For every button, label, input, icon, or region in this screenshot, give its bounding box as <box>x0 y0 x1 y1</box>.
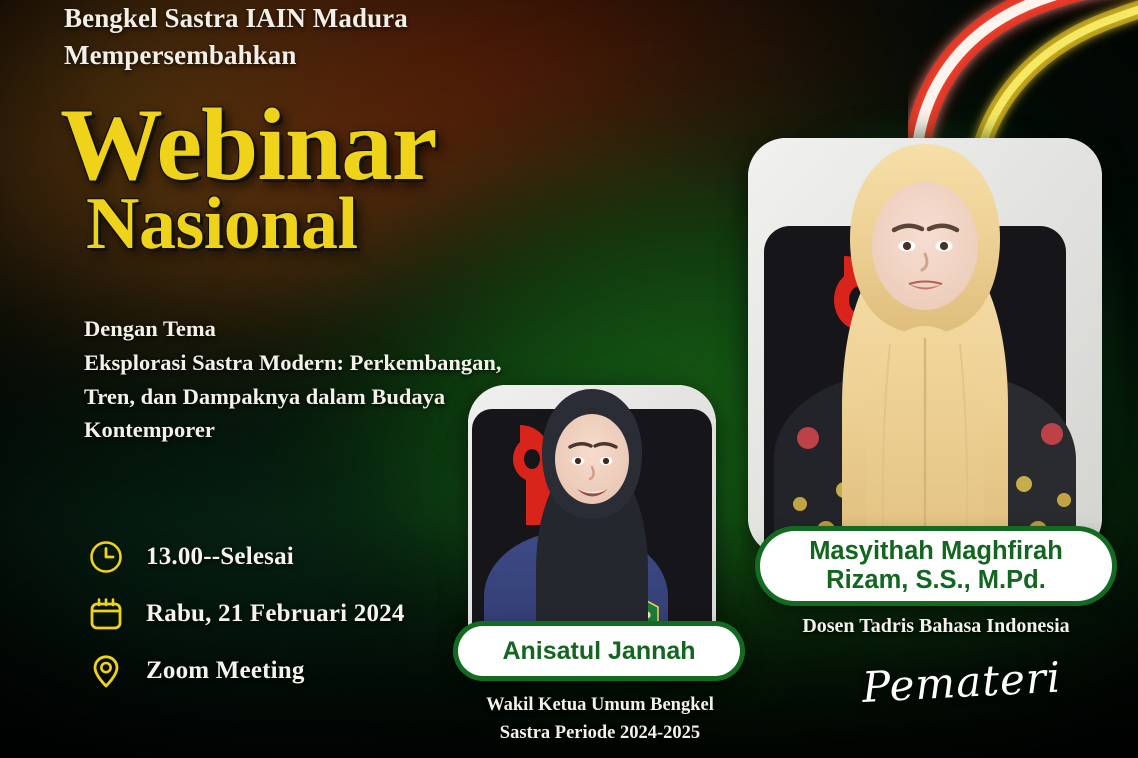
header-line-2: Mempersembahkan <box>64 37 684 74</box>
speaker-secondary-name: Anisatul Jannah <box>502 637 695 666</box>
photo-frame-secondary <box>468 385 716 667</box>
speaker-main-role: Dosen Tadris Bahasa Indonesia <box>760 615 1112 638</box>
speaker-secondary-role-line-1: Wakil Ketua Umum Bengkel <box>440 692 760 720</box>
photo-frame-main <box>748 138 1102 556</box>
speaker-secondary-role-line-2: Sastra Periode 2024-2025 <box>440 720 760 748</box>
detail-row-date: Rabu, 21 Februari 2024 <box>88 585 405 642</box>
speaker-name-badge-secondary: Anisatul Jannah <box>458 626 740 676</box>
speaker-photo-main <box>748 138 1102 556</box>
pemateri-script-label: Pemateri <box>861 653 1053 712</box>
calendar-icon <box>88 596 124 632</box>
portrait-illustration-main <box>748 138 1102 556</box>
detail-row-location: Zoom Meeting <box>88 642 405 699</box>
speaker-photo-secondary <box>468 385 716 667</box>
header-line-1: Bengkel Sastra IAIN Madura <box>64 0 684 37</box>
organizer-header: Bengkel Sastra IAIN Madura Mempersembahk… <box>64 0 684 75</box>
speaker-secondary-role: Wakil Ketua Umum Bengkel Sastra Periode … <box>440 692 760 748</box>
photo-image-main <box>748 138 1102 556</box>
detail-date-text: Rabu, 21 Februari 2024 <box>146 600 405 628</box>
event-details: 13.00--Selesai Rabu, 21 Februari 2024 Zo… <box>88 528 405 699</box>
detail-row-time: 13.00--Selesai <box>88 528 405 585</box>
theme-label: Dengan Tema <box>84 312 554 346</box>
photo-image-secondary <box>468 385 716 667</box>
poster-title: Webinar Nasional <box>60 98 436 261</box>
detail-time-text: 13.00--Selesai <box>146 543 294 571</box>
speaker-name-badge-main: Masyithah Maghfirah Rizam, S.S., M.Pd. <box>760 531 1112 601</box>
speaker-main-name-line-1: Masyithah Maghfirah <box>809 537 1063 566</box>
detail-location-text: Zoom Meeting <box>146 657 305 685</box>
title-webinar: Webinar <box>60 98 436 193</box>
location-pin-icon <box>88 653 124 689</box>
clock-icon <box>88 539 124 575</box>
portrait-illustration-secondary <box>468 385 716 667</box>
webinar-poster: Bengkel Sastra IAIN Madura Mempersembahk… <box>0 0 1138 758</box>
speaker-main-name-line-2: Rizam, S.S., M.Pd. <box>809 566 1063 595</box>
